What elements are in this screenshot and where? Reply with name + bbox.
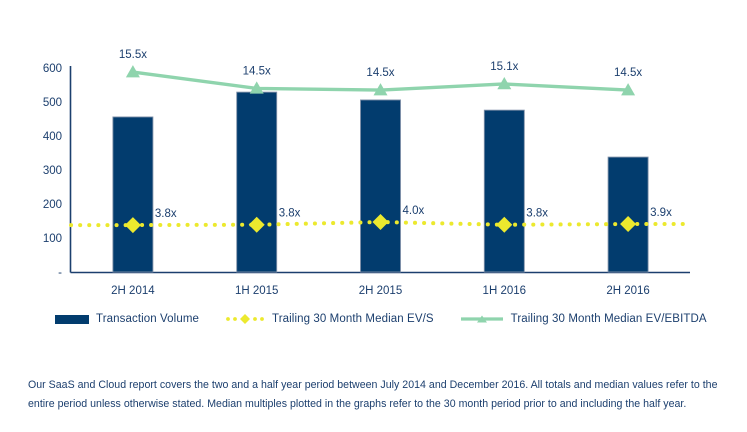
bar-2 [361,100,401,272]
bar-1 [237,92,277,272]
transaction-volume-chart: -100200300400500600 15.5x14.5x14.5x15.1x… [0,0,747,300]
ev-s-label-1: 3.8x [279,208,301,220]
legend-item-transaction-volume[interactable]: Transaction Volume [55,313,199,325]
svg-text:200: 200 [43,199,62,211]
bar-swatch-icon [55,315,89,324]
legend-label-ev-ebitda: Trailing 30 Month Median EV/EBITDA [511,313,707,325]
legend-item-ev-ebitda[interactable]: Trailing 30 Month Median EV/EBITDA [460,312,707,326]
ev-ebitda-label-1: 14.5x [243,65,271,77]
ev-ebitda-data-labels: 15.5x14.5x14.5x15.1x14.5x [119,49,643,79]
category-label-0: 2H 2014 [111,285,155,297]
x-axis-category-labels: 2H 20141H 20152H 20151H 20162H 2016 [111,285,650,297]
svg-text:400: 400 [43,131,62,143]
category-label-4: 2H 2016 [606,285,649,297]
ev-s-label-0: 3.8x [155,208,177,220]
svg-text:-: - [58,267,62,279]
chart-canvas: -100200300400500600 15.5x14.5x14.5x15.1x… [0,0,747,300]
ev-s-label-4: 3.9x [650,207,672,219]
svg-text:300: 300 [43,165,62,177]
legend-label-ev-s: Trailing 30 Month Median EV/S [272,313,434,325]
ev-ebitda-label-3: 15.1x [490,61,518,73]
chart-legend: Transaction Volume Trailing 30 Month Med… [0,305,747,333]
legend-label-transaction-volume: Transaction Volume [96,313,199,325]
ev-s-label-3: 3.8x [526,208,548,220]
ev-ebitda-label-4: 14.5x [614,67,642,79]
category-label-1: 1H 2015 [235,285,278,297]
category-label-3: 1H 2016 [483,285,526,297]
svg-text:600: 600 [43,63,62,75]
y-axis-tick-labels: -100200300400500600 [43,63,62,279]
footnote-text: Our SaaS and Cloud report covers the two… [28,376,720,413]
bar-series [113,92,648,272]
ev-s-data-labels: 3.8x3.8x4.0x3.8x3.9x [155,205,672,220]
ev-ebitda-label-0: 15.5x [119,49,147,61]
ev-s-label-2: 4.0x [403,205,425,217]
svg-text:500: 500 [43,97,62,109]
bar-3 [484,110,524,272]
bar-4 [608,157,648,272]
dotted-diamond-swatch-icon [225,312,265,326]
line-triangle-swatch-icon [460,312,504,326]
category-label-2: 2H 2015 [359,285,402,297]
chart-page: -100200300400500600 15.5x14.5x14.5x15.1x… [0,0,747,432]
ev-ebitda-label-2: 14.5x [366,67,394,79]
svg-text:100: 100 [43,233,62,245]
bar-0 [113,117,153,272]
legend-item-ev-s[interactable]: Trailing 30 Month Median EV/S [225,312,434,326]
